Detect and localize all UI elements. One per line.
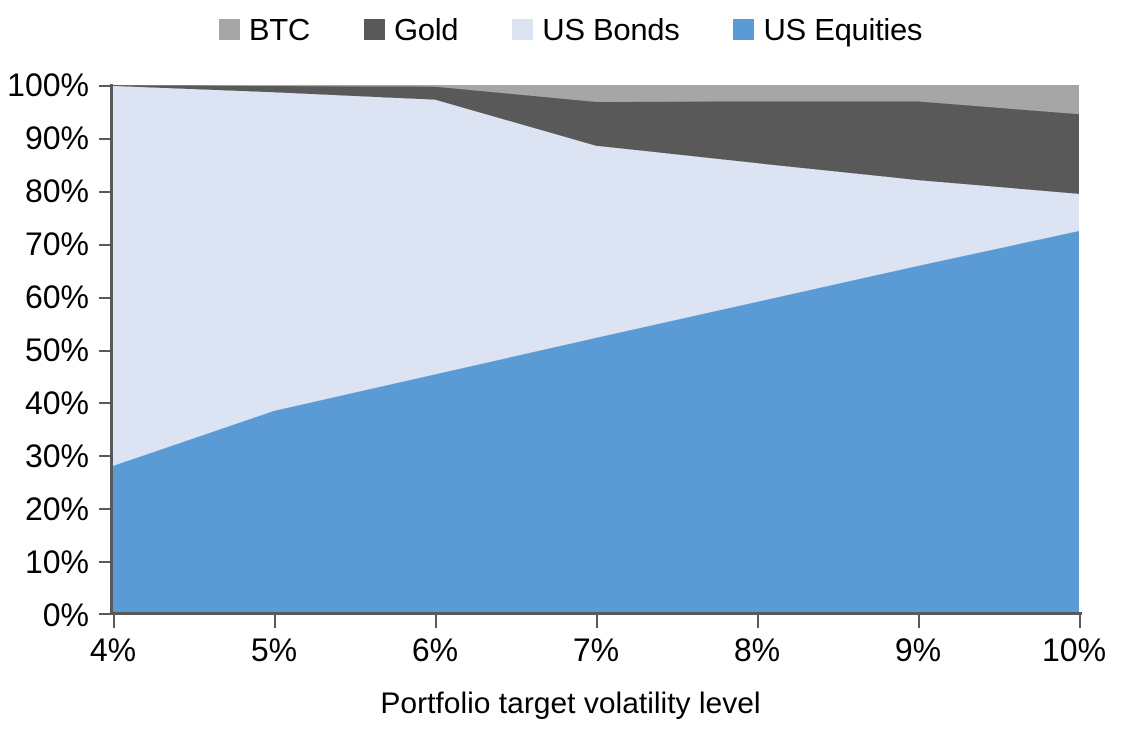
- legend-item-btc[interactable]: BTC: [219, 14, 310, 45]
- legend-item-gold[interactable]: Gold: [364, 14, 458, 45]
- legend-label-us-bonds: US Bonds: [542, 14, 679, 45]
- legend-item-us-bonds[interactable]: US Bonds: [512, 14, 679, 45]
- y-tick-label-40: 40%: [0, 387, 89, 419]
- x-tick-mark: [435, 615, 437, 628]
- plot-area: [113, 85, 1079, 614]
- y-tick-label-100: 100%: [0, 69, 89, 101]
- legend-label-us-equities: US Equities: [763, 14, 922, 45]
- x-tick-mark: [113, 615, 115, 628]
- x-tick-mark: [596, 615, 598, 628]
- y-tick-label-80: 80%: [0, 175, 89, 207]
- x-tick-label-9: 9%: [848, 634, 988, 666]
- legend-swatch-us-bonds: [512, 19, 533, 40]
- legend-swatch-us-equities: [733, 19, 754, 40]
- y-tick-label-30: 30%: [0, 440, 89, 472]
- y-tick-label-20: 20%: [0, 493, 89, 525]
- legend-item-us-equities[interactable]: US Equities: [733, 14, 922, 45]
- y-axis-line: [110, 84, 113, 615]
- x-tick-mark: [757, 615, 759, 628]
- y-tick-label-10: 10%: [0, 546, 89, 578]
- legend-label-btc: BTC: [249, 14, 310, 45]
- legend-swatch-btc: [219, 19, 240, 40]
- stacked-area-chart: BTC Gold US Bonds US Equities 100% 90% 8…: [0, 0, 1141, 742]
- area-series-group: [113, 85, 1079, 614]
- y-tick-label-0: 0%: [0, 599, 89, 631]
- y-tick-label-50: 50%: [0, 334, 89, 366]
- x-tick-label-5: 5%: [204, 634, 344, 666]
- chart-legend: BTC Gold US Bonds US Equities: [0, 6, 1141, 52]
- legend-swatch-gold: [364, 19, 385, 40]
- x-tick-mark: [1079, 615, 1081, 628]
- x-tick-mark: [274, 615, 276, 628]
- x-tick-label-10: 10%: [1004, 634, 1141, 666]
- x-tick-label-7: 7%: [526, 634, 666, 666]
- legend-label-gold: Gold: [394, 14, 458, 45]
- x-tick-label-4: 4%: [43, 634, 183, 666]
- x-axis-title: Portfolio target volatility level: [0, 689, 1141, 719]
- y-tick-label-90: 90%: [0, 122, 89, 154]
- y-tick-label-60: 60%: [0, 281, 89, 313]
- y-tick-label-70: 70%: [0, 228, 89, 260]
- x-tick-label-6: 6%: [365, 634, 505, 666]
- x-tick-label-8: 8%: [687, 634, 827, 666]
- x-tick-mark: [918, 615, 920, 628]
